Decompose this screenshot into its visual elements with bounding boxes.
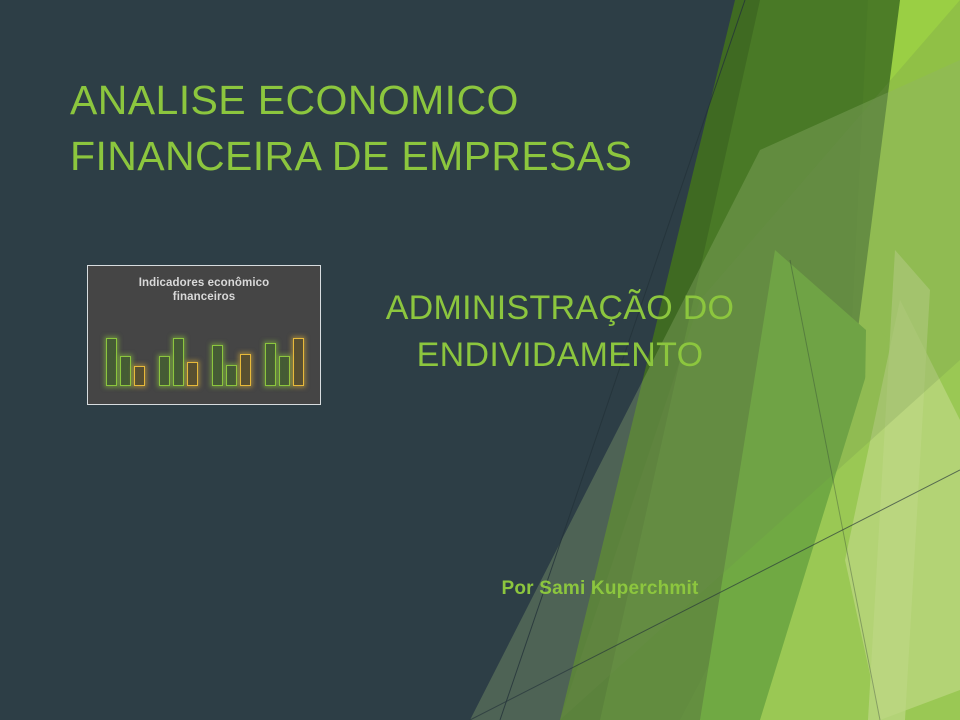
indicators-thumbnail-image: Indicadores econômico financeiros xyxy=(87,265,321,405)
shape-pale-ribbon xyxy=(868,250,930,720)
author-credit: Por Sami Kuperchmit xyxy=(320,578,880,600)
chart-bar xyxy=(212,345,223,386)
bar-group xyxy=(265,338,304,386)
chart-bar xyxy=(240,354,251,386)
page-title: ANALISE ECONOMICO FINANCEIRA DE EMPRESAS xyxy=(70,73,690,185)
chart-bar xyxy=(187,362,198,386)
chart-bar xyxy=(226,365,237,386)
slide-subtitle: ADMINISTRAÇÃO DO ENDIVIDAMENTO xyxy=(345,285,775,379)
thumbnail-caption: Indicadores econômico financeiros xyxy=(88,276,320,305)
chart-bar xyxy=(106,338,117,386)
bar-group xyxy=(212,338,251,386)
hairline-diagonal-cross xyxy=(790,260,880,720)
bar-group xyxy=(159,338,198,386)
chart-bar xyxy=(293,338,304,386)
bar-group xyxy=(106,338,145,386)
chart-bar xyxy=(159,356,170,386)
chart-bar xyxy=(173,338,184,386)
chart-bar xyxy=(120,356,131,386)
shape-bright-lower-block xyxy=(760,330,960,720)
chart-bar xyxy=(265,343,276,386)
presentation-slide: ANALISE ECONOMICO FINANCEIRA DE EMPRESAS… xyxy=(0,0,960,720)
chart-bar xyxy=(134,366,145,386)
thumbnail-bar-chart xyxy=(106,338,304,386)
chart-bar xyxy=(279,356,290,386)
shape-pale-highlight-sliver xyxy=(845,300,960,720)
